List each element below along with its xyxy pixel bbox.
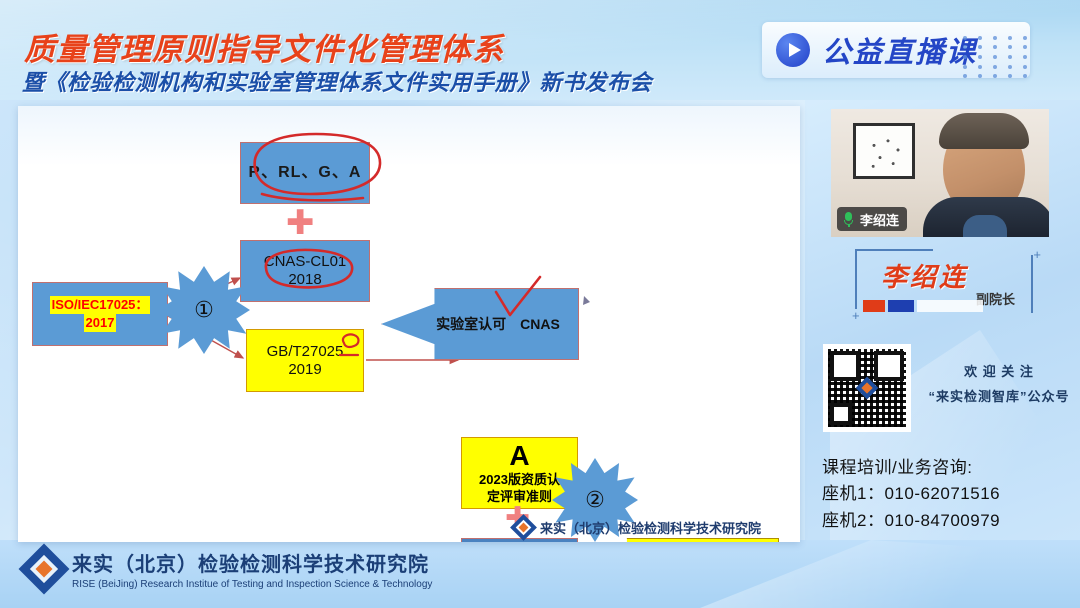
microphone-icon (842, 212, 855, 227)
nameplate-rule-left (855, 249, 857, 309)
plus-decor-icon: + (1033, 247, 1041, 262)
decorative-dot-grid (958, 34, 1032, 80)
burst-two-label: ② (585, 487, 605, 513)
contact-title: 课程培训/业务咨询: (822, 455, 1000, 481)
box-a-letter: A (509, 442, 529, 470)
box-cnas-cl01-line2: 2018 (288, 271, 321, 289)
qr-center-logo-icon (856, 377, 879, 400)
rise-logo-icon (510, 514, 537, 541)
speaker-figure (919, 109, 1049, 237)
arrow-cnas-label: 实验室认可 CNAS (436, 314, 560, 334)
qr-code[interactable] (823, 344, 911, 432)
box-gbt-line1: GB/T27025 (267, 343, 344, 361)
live-course-badge[interactable]: 公益直播课 (762, 22, 1030, 78)
contact-block: 课程培训/业务咨询: 座机1：010-62071516 座机2：010-8470… (822, 455, 1000, 534)
box-iso-line2: 2017 (84, 314, 117, 332)
play-icon (776, 33, 810, 67)
follow-line-2: “来实检测智库”公众号 (920, 385, 1078, 410)
page-subtitle: 暨《检验检测机构和实验室管理体系文件实用手册》新书发布会 (22, 65, 652, 97)
footer-band-highlight (700, 540, 1080, 608)
plus-symbol-1: ✚ (286, 206, 315, 240)
speaker-video-tile[interactable]: 李绍连 (831, 109, 1049, 237)
contact-phone-1: 座机1：010-62071516 (822, 481, 1000, 507)
box-rrlga-label: R、RL、G、A (249, 164, 362, 183)
burst-one-label: ① (194, 297, 214, 323)
video-name-overlay: 李绍连 (837, 207, 907, 231)
video-speaker-name: 李绍连 (860, 210, 899, 229)
follow-text: 欢 迎 关 注 “来实检测智库”公众号 (920, 360, 1078, 409)
page-title: 质量管理原则指导文件化管理体系 (24, 24, 504, 69)
footer-org-logo: 来实（北京）检验检测科学技术研究院 RISE (BeiJing) Researc… (26, 548, 432, 590)
footer-org-cn: 来实（北京）检验检测科学技术研究院 (72, 548, 432, 577)
box-a-line1: 2023版资质认 (479, 472, 560, 487)
box-rrlga[interactable]: R、RL、G、A (240, 142, 370, 204)
box-gbt-27025[interactable]: GB/T27025 2019 (246, 329, 364, 392)
wall-picture-frame (853, 123, 915, 179)
box-iso-line1: ISO/IEC17025： (50, 296, 151, 314)
speaker-nameplate: + + 李绍连 副院长 (855, 249, 1047, 317)
burst-marker-one: ① (158, 266, 250, 354)
presentation-slide[interactable]: R、RL、G、A ✚ CNAS-CL01 2018 ISO/IEC17025： … (18, 106, 800, 542)
nameplate-color-bar (863, 300, 983, 312)
nameplate-name: 李绍连 (881, 257, 968, 294)
contact-phone-2: 座机2：010-84700979 (822, 508, 1000, 534)
box-gbt-line2: 2019 (288, 361, 321, 379)
box-cnas-cl01[interactable]: CNAS-CL01 2018 (240, 240, 370, 302)
rise-logo-icon-large (19, 544, 70, 595)
nameplate-rule-top (855, 249, 933, 251)
footer-org-en: RISE (BeiJing) Research Institue of Test… (72, 579, 432, 590)
nameplate-rule-right (1031, 255, 1033, 313)
live-badge-label: 公益直播课 (822, 29, 977, 71)
box-cnas-cl01-line1: CNAS-CL01 (264, 253, 347, 271)
follow-line-1: 欢 迎 关 注 (920, 360, 1078, 385)
slide-logo-label: 来实（北京）检验检测科学技术研究院 (540, 518, 761, 537)
box-iso-17025[interactable]: ISO/IEC17025： 2017 (32, 282, 168, 346)
slide-org-logo: 来实（北京）检验检测科学技术研究院 (514, 518, 761, 537)
plus-decor-icon-2: + (852, 308, 860, 323)
